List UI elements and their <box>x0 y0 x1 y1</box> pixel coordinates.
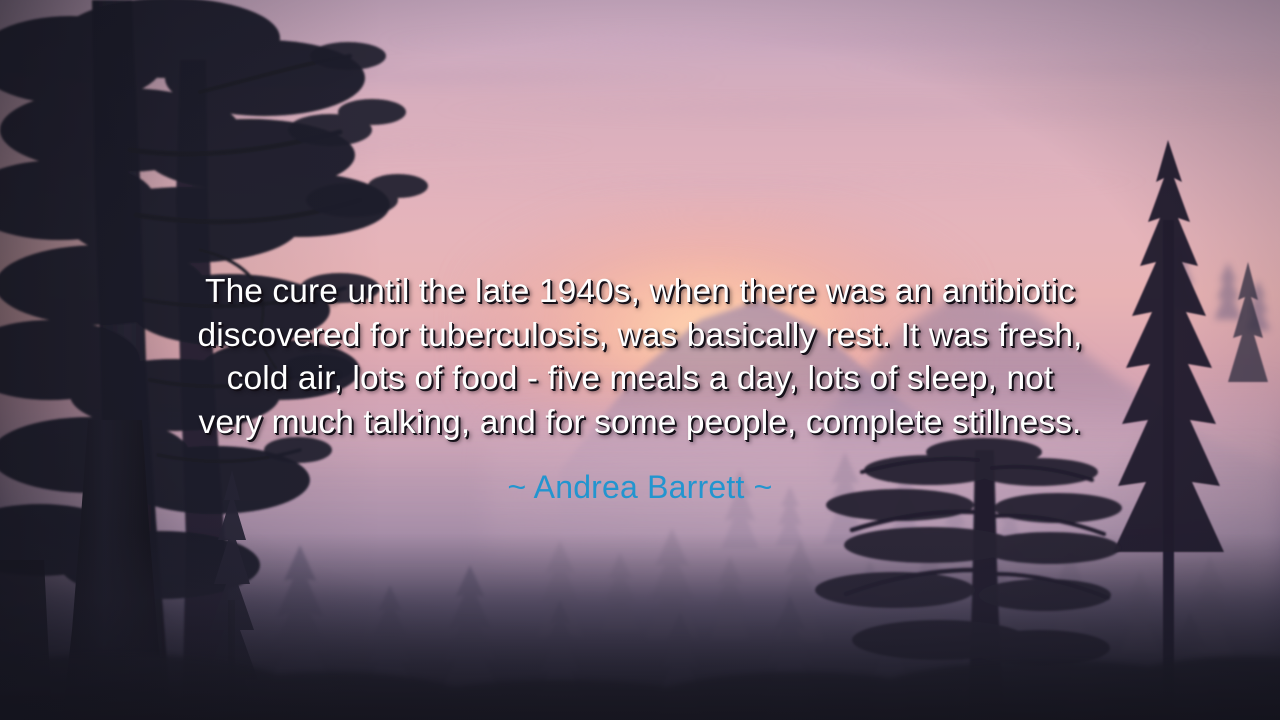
quote-image-canvas: The cure until the late 1940s, when ther… <box>0 0 1280 720</box>
quote-text: The cure until the late 1940s, when ther… <box>140 270 1140 444</box>
quote-overlay: The cure until the late 1940s, when ther… <box>0 0 1280 720</box>
quote-author: ~ Andrea Barrett ~ <box>140 468 1140 506</box>
